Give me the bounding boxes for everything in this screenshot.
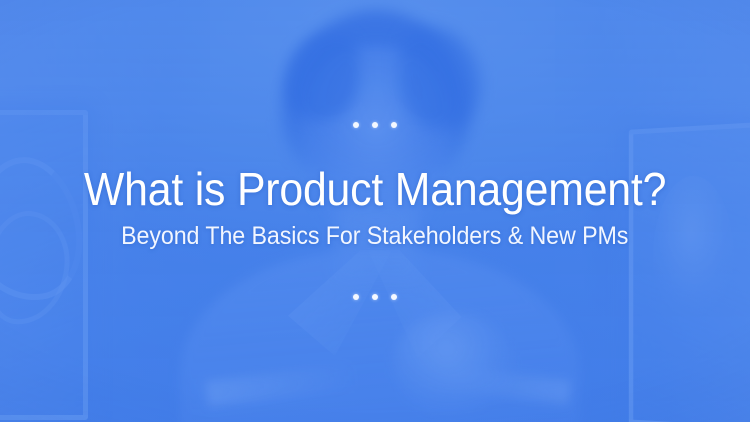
dot-divider-top (353, 121, 397, 128)
title-card-content: What is Product Management? Beyond The B… (0, 0, 750, 422)
dot-icon (353, 294, 359, 300)
dot-icon (391, 294, 397, 300)
page-subtitle: Beyond The Basics For Stakeholders & New… (121, 223, 628, 251)
page-title: What is Product Management? (84, 166, 666, 214)
dot-icon (391, 122, 397, 128)
dot-icon (372, 294, 378, 300)
video-title-card: What is Product Management? Beyond The B… (0, 0, 750, 422)
dot-icon (372, 122, 378, 128)
dot-icon (353, 122, 359, 128)
dot-divider-bottom (353, 294, 397, 301)
